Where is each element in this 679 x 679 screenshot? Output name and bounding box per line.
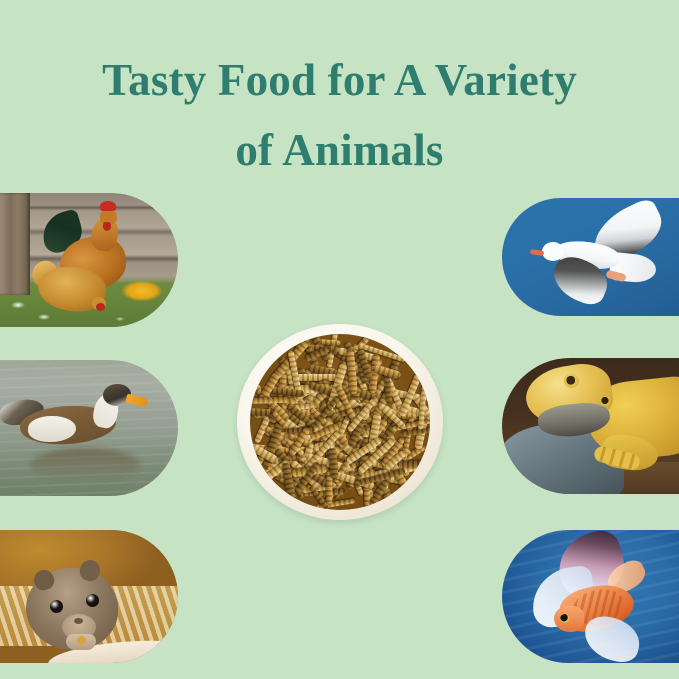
- bearded-dragon-eye-right: [600, 396, 611, 406]
- bearded-dragon-background: [502, 358, 679, 494]
- hamster-background: [0, 530, 178, 663]
- duck-reflection: [30, 448, 140, 482]
- animal-photo-bearded-dragon: [502, 358, 679, 494]
- mealworm-pile: [250, 334, 430, 510]
- seagull-beak: [530, 249, 545, 256]
- hamster-eye-right: [86, 594, 99, 607]
- page-title: Tasty Food for A Variety of Animals: [0, 46, 679, 186]
- animal-photo-chicken: [0, 193, 178, 327]
- betta-fish-water-background: [502, 530, 679, 663]
- mealworm: [250, 396, 289, 403]
- page-title-line-2: of Animals: [0, 116, 679, 186]
- product-poster: Tasty Food for A Variety of Animals: [0, 0, 679, 679]
- animal-photo-betta-fish: [502, 530, 679, 663]
- seagull-head: [542, 242, 564, 261]
- hamster-seed: [77, 636, 86, 644]
- animal-photo-duck: [0, 360, 178, 496]
- hen-comb: [96, 303, 105, 311]
- animal-photo-seagull: [502, 198, 679, 316]
- product-bowl: [237, 324, 443, 520]
- hamster-nose: [74, 618, 83, 624]
- animal-photo-hamster: [0, 530, 178, 663]
- bearded-dragon-eye-left: [564, 374, 579, 388]
- page-title-line-1: Tasty Food for A Variety: [0, 46, 679, 116]
- wooden-post: [0, 193, 30, 295]
- hamster-eye-left: [50, 600, 63, 613]
- rooster-wattle: [103, 222, 111, 231]
- rooster-comb: [100, 201, 116, 211]
- chicken-scene-background: [0, 193, 178, 327]
- seagull-sky-background: [502, 198, 679, 316]
- duck-water-background: [0, 360, 178, 496]
- betta-eye: [560, 614, 570, 623]
